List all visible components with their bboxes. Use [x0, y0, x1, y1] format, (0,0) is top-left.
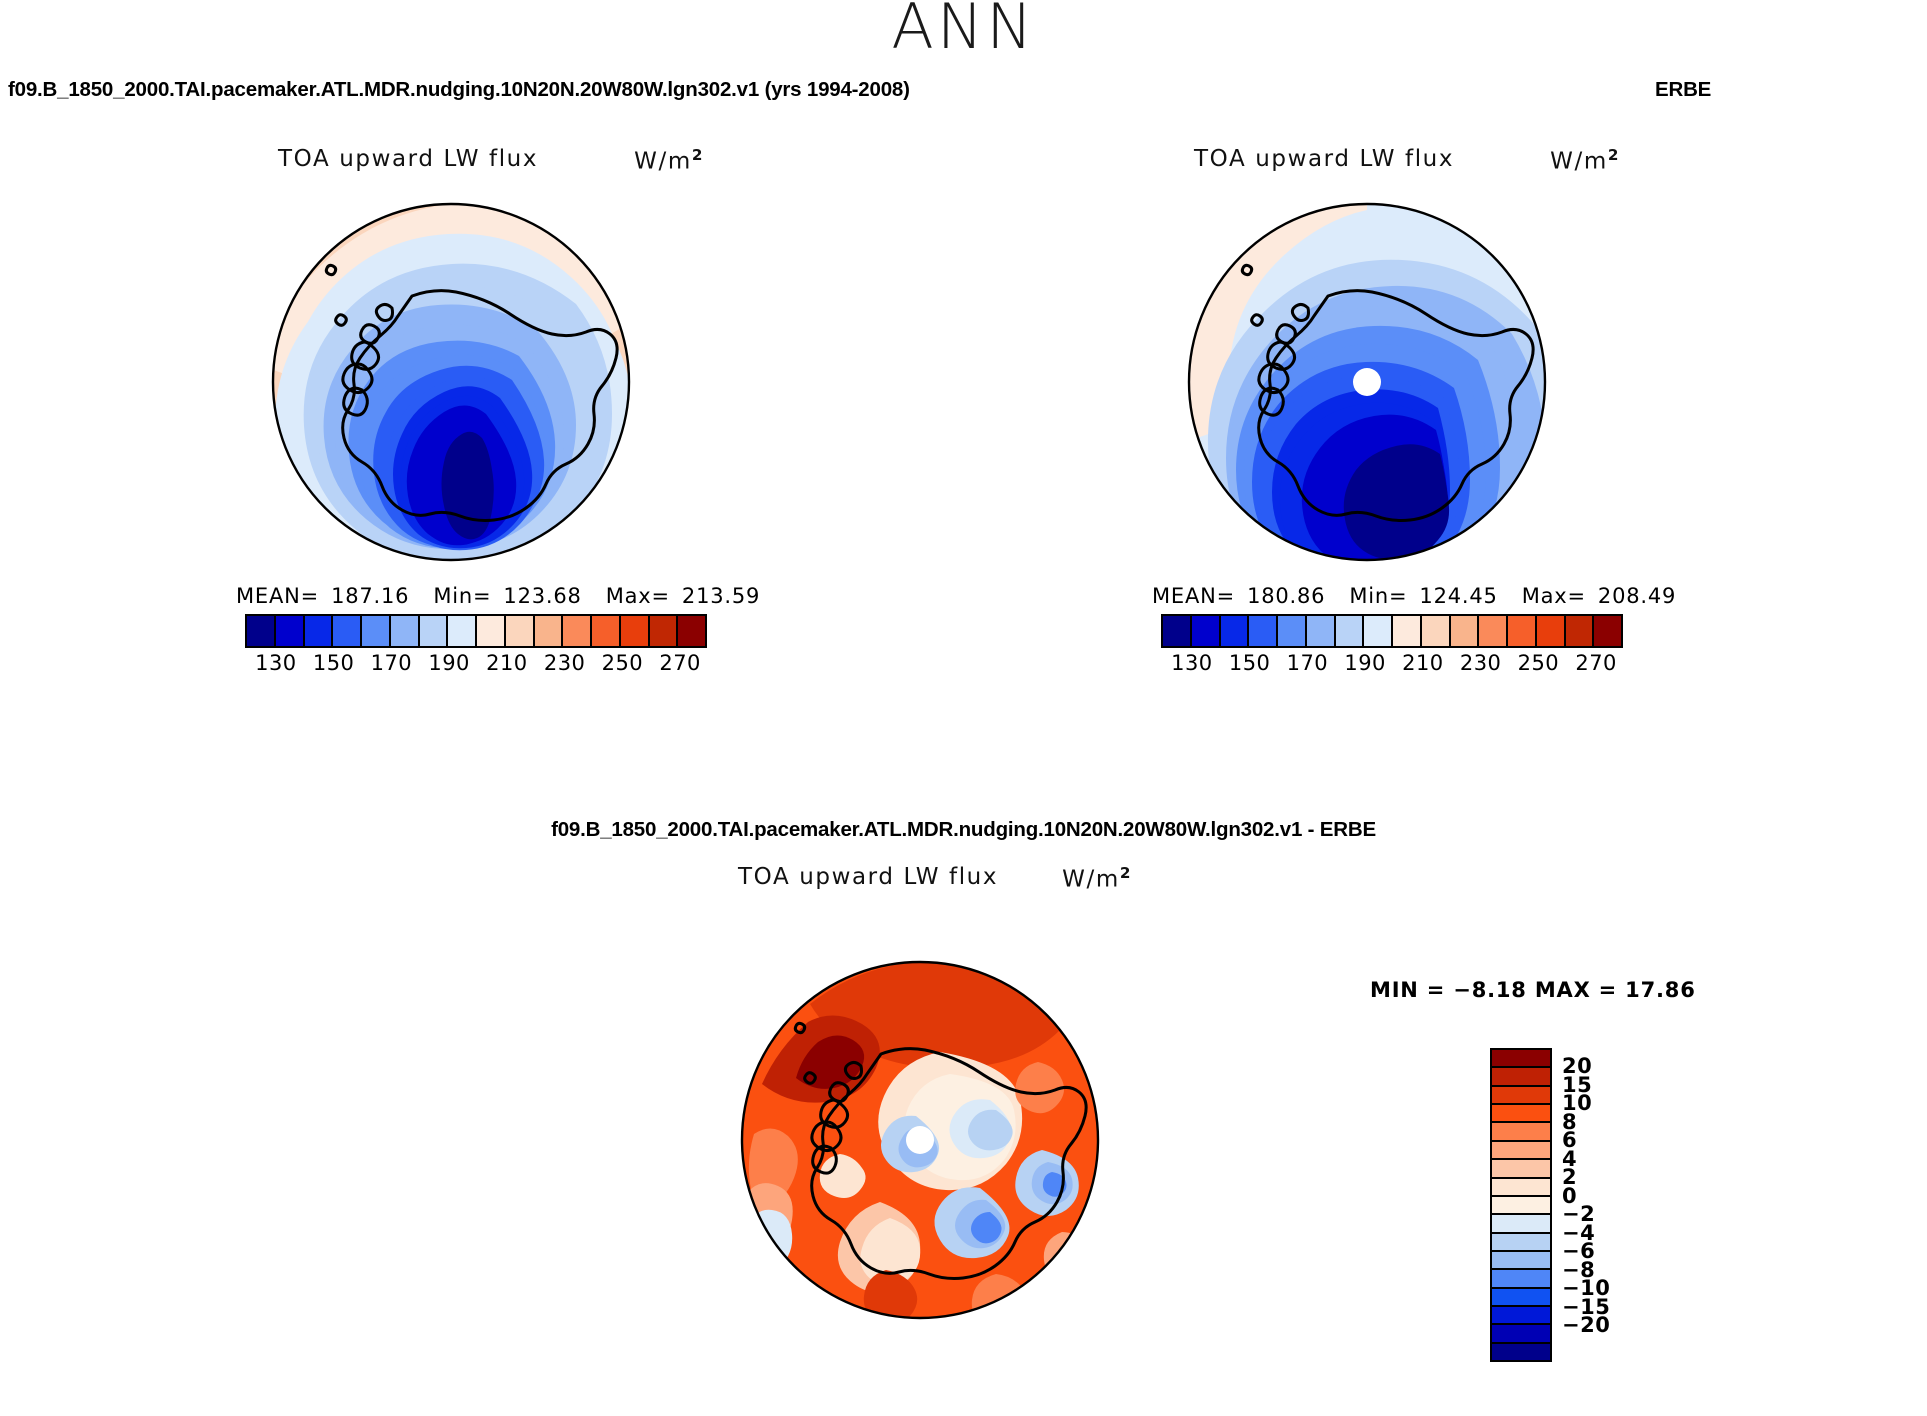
colorbar-cell	[678, 616, 705, 646]
units-label-model: W/m2	[634, 146, 704, 175]
colorbar-cell	[1492, 1123, 1550, 1141]
stat-mean-value-model: 187.16	[331, 584, 409, 608]
stat-max-label-model: Max=	[606, 584, 670, 608]
colorbar-difference-labels: 20151086420−2−4−6−8−10−15−20	[1562, 1048, 1672, 1362]
colorbar-cell	[362, 616, 391, 646]
colorbar-tick-label: 150	[1229, 651, 1271, 675]
colorbar-cell	[477, 616, 506, 646]
colorbar-cell	[1249, 616, 1278, 646]
colorbar-cell	[1393, 616, 1422, 646]
case-title-observation: ERBE	[1655, 78, 1711, 102]
map-model	[236, 184, 716, 584]
colorbar-cell	[1594, 616, 1621, 646]
colorbar-cell	[1278, 616, 1307, 646]
stat-max-value-model: 213.59	[682, 584, 760, 608]
colorbar-cell	[1537, 616, 1566, 646]
colorbar-cell	[1492, 1289, 1550, 1307]
panel-observation: TOA upward LW flux W/m2	[1152, 140, 1632, 760]
colorbar-observation[interactable]	[1161, 614, 1623, 648]
colorbar-cell	[333, 616, 362, 646]
colorbar-cell	[1508, 616, 1537, 646]
units-label-observation: W/m2	[1550, 146, 1620, 175]
colorbar-cell	[1492, 1160, 1550, 1178]
colorbar-tick-label: 190	[428, 651, 470, 675]
field-label-row-observation: TOA upward LW flux W/m2	[1152, 140, 1632, 184]
colorbar-cell	[276, 616, 305, 646]
colorbar-cell	[1364, 616, 1393, 646]
pole-mask-difference	[906, 1126, 934, 1154]
colorbar-cell	[247, 616, 276, 646]
map-observation	[1152, 184, 1632, 584]
stat-min-label-model: Min=	[433, 584, 491, 608]
stats-line-observation: MEAN=180.86Min=124.45Max=208.49	[1152, 584, 1632, 608]
colorbar-cell	[1163, 616, 1192, 646]
colorbar-cell	[1492, 1234, 1550, 1252]
panel-difference: TOA upward LW flux W/m2	[690, 858, 1250, 1403]
diff-minmax-readout: MIN = −8.18 MAX = 17.86	[1370, 978, 1696, 1002]
case-title-difference: f09.B_1850_2000.TAI.pacemaker.ATL.MDR.nu…	[0, 818, 1927, 842]
colorbar-cell	[506, 616, 535, 646]
colorbar-cell	[1492, 1105, 1550, 1123]
map-difference	[690, 902, 1250, 1402]
pole-mask-observation	[1353, 368, 1381, 396]
colorbar-cell	[448, 616, 477, 646]
colorbar-cell	[535, 616, 564, 646]
colorbar-tick-label: 130	[255, 651, 297, 675]
colorbar-cell	[1566, 616, 1595, 646]
field-label-difference: TOA upward LW flux	[738, 864, 998, 890]
colorbar-cell	[1492, 1307, 1550, 1325]
colorbar-cell	[1492, 1325, 1550, 1343]
field-label-row-model: TOA upward LW flux W/m2	[236, 140, 716, 184]
stats-line-model: MEAN=187.16Min=123.68Max=213.59	[236, 584, 716, 608]
colorbar-cell	[1492, 1252, 1550, 1270]
colorbar-cell	[621, 616, 650, 646]
colorbar-cell	[420, 616, 449, 646]
page-title: ANN	[0, 0, 1927, 58]
colorbar-tick-label: 210	[1402, 651, 1444, 675]
colorbar-cell	[1336, 616, 1365, 646]
stat-max-label-observation: Max=	[1522, 584, 1586, 608]
stat-mean-label-model: MEAN=	[236, 584, 319, 608]
colorbar-cell	[391, 616, 420, 646]
stat-max-value-observation: 208.49	[1598, 584, 1676, 608]
colorbar-cell	[1492, 1087, 1550, 1105]
colorbar-cell	[650, 616, 679, 646]
colorbar-tick-label: 270	[1575, 651, 1617, 675]
case-title-model: f09.B_1850_2000.TAI.pacemaker.ATL.MDR.nu…	[8, 78, 910, 102]
panel-model: TOA upward LW flux W/m2	[236, 140, 716, 760]
field-label-model: TOA upward LW flux	[278, 146, 538, 172]
colorbar-cell	[1492, 1215, 1550, 1233]
stat-mean-value-observation: 180.86	[1247, 584, 1325, 608]
colorbar-tick-label: 250	[602, 651, 644, 675]
stat-mean-label-observation: MEAN=	[1152, 584, 1235, 608]
colorbar-cell	[1492, 1197, 1550, 1215]
colorbar-cell	[1422, 616, 1451, 646]
colorbar-cell	[1451, 616, 1480, 646]
colorbar-tick-label: 230	[544, 651, 586, 675]
colorbar-cell	[1492, 1050, 1550, 1068]
colorbar-tick-label: 210	[486, 651, 528, 675]
stat-min-value-model: 123.68	[503, 584, 581, 608]
field-label-observation: TOA upward LW flux	[1194, 146, 1454, 172]
colorbar-labels-model: 130150170190210230250270	[245, 651, 707, 681]
colorbar-tick-label: 130	[1171, 651, 1213, 675]
colorbar-cell	[592, 616, 621, 646]
colorbar-cell	[1492, 1142, 1550, 1160]
colorbar-tick-label: 190	[1344, 651, 1386, 675]
colorbar-cell	[1492, 1270, 1550, 1288]
colorbar-difference[interactable]	[1490, 1048, 1552, 1362]
colorbar-tick-label: 270	[659, 651, 701, 675]
stat-min-value-observation: 124.45	[1419, 584, 1497, 608]
colorbar-tick-label: 170	[1287, 651, 1329, 675]
colorbar-cell	[1479, 616, 1508, 646]
colorbar-difference-wrapper: 20151086420−2−4−6−8−10−15−20	[1490, 1048, 1680, 1366]
colorbar-tick-label: 230	[1460, 651, 1502, 675]
colorbar-tick-label: 170	[371, 651, 413, 675]
colorbar-cell	[1492, 1344, 1550, 1360]
colorbar-tick-label: 150	[313, 651, 355, 675]
colorbar-cell	[563, 616, 592, 646]
colorbar-cell	[1492, 1068, 1550, 1086]
colorbar-cell	[1192, 616, 1221, 646]
field-label-row-difference: TOA upward LW flux W/m2	[690, 858, 1250, 902]
colorbar-cell	[1221, 616, 1250, 646]
colorbar-model[interactable]	[245, 614, 707, 648]
stat-min-label-observation: Min=	[1349, 584, 1407, 608]
colorbar-cell	[1307, 616, 1336, 646]
colorbar-labels-observation: 130150170190210230250270	[1161, 651, 1623, 681]
colorbar-cell	[305, 616, 334, 646]
colorbar-tick-label: −20	[1562, 1313, 1610, 1337]
colorbar-tick-label: 250	[1518, 651, 1560, 675]
units-label-difference: W/m2	[1062, 864, 1132, 893]
colorbar-cell	[1492, 1179, 1550, 1197]
